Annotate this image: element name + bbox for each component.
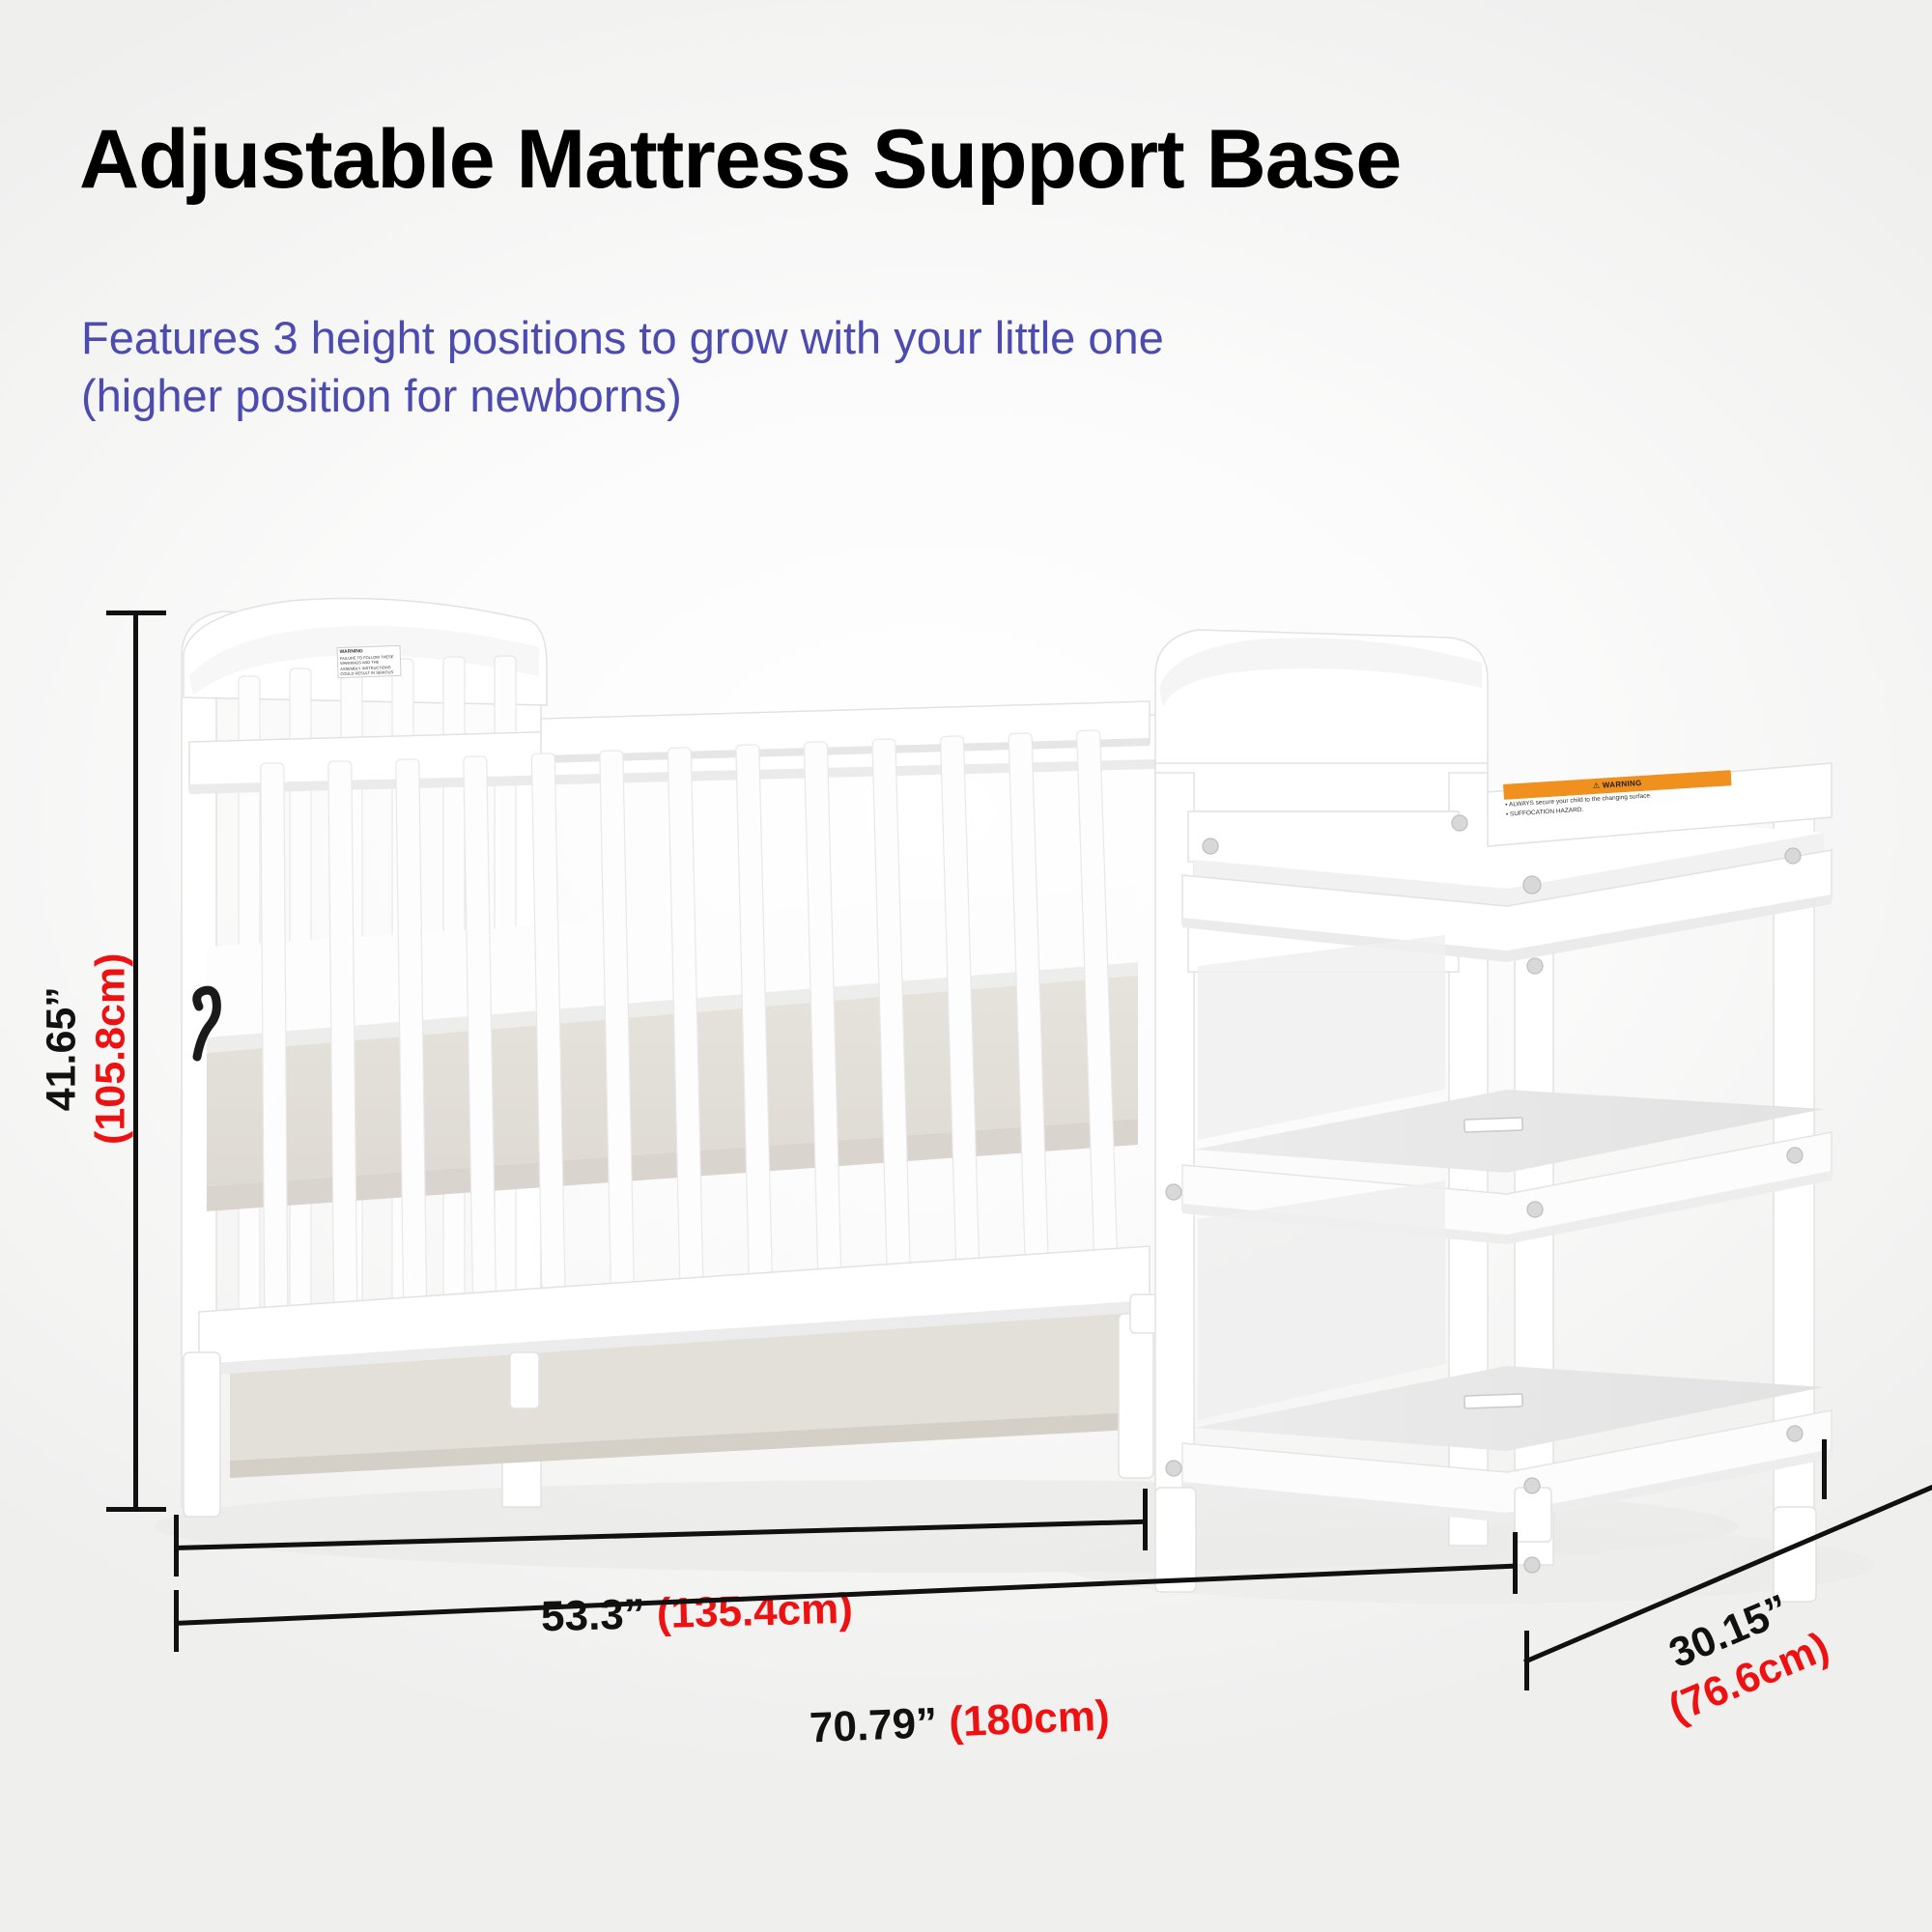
height-centimeters: (105.8cm) xyxy=(86,890,135,1208)
height-tick-top xyxy=(106,611,166,615)
total-width-tick-right xyxy=(1513,1532,1518,1594)
height-dimension-label: 41.65” (105.8cm) xyxy=(37,890,134,1208)
total-width-inches: 70.79” xyxy=(809,1699,938,1751)
crib-warning-body: FAILURE TO FOLLOW THESE WARNINGS AND THE… xyxy=(340,654,399,678)
illustration-canvas: Adjustable Mattress Support Base Feature… xyxy=(0,0,1932,1932)
crib-width-tick-left xyxy=(174,1515,179,1577)
crib-warning-sticker: WARNING FAILURE TO FOLLOW THESE WARNINGS… xyxy=(336,645,401,678)
total-width-centimeters: (180cm) xyxy=(948,1692,1110,1747)
depth-tick-far xyxy=(1822,1439,1827,1499)
height-tick-bottom xyxy=(106,1507,166,1512)
depth-tick-near xyxy=(1524,1631,1529,1690)
crib-width-inches: 53.3” xyxy=(540,1590,645,1640)
total-width-tick-left xyxy=(174,1590,179,1652)
crib-width-tick-right xyxy=(1143,1489,1148,1550)
height-inches: 41.65” xyxy=(37,890,86,1208)
